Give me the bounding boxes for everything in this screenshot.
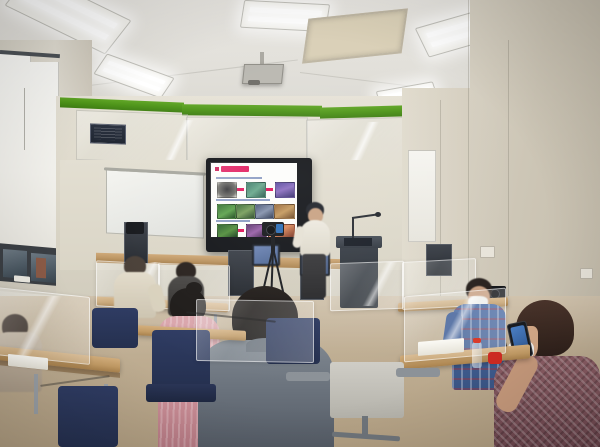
slide-title [221,166,249,172]
attendee-pink-hairbun [186,282,202,295]
glass-reflection [330,121,400,162]
blind-cord[interactable] [24,88,25,150]
right-window-blind [408,150,436,242]
glass-reflection [150,119,210,160]
slide-thumbnail [217,182,237,198]
power-outlet[interactable] [480,246,495,258]
camera-lens [266,225,276,235]
slide-row-label [216,220,250,222]
slide-thumbnail [246,182,266,198]
lectern-control-screen[interactable] [344,238,372,246]
projector-lens [248,80,260,85]
desk-leg [34,374,38,414]
slide-thumbnail [255,204,274,219]
slide-content [211,163,297,237]
chair-seat [146,384,216,402]
whiteboard [106,169,204,238]
slide-row-label [216,199,270,201]
classroom-photo [0,0,600,447]
presenter-legs [302,254,326,298]
slide-thumbnail [275,182,295,198]
wall-accent-stripe [182,104,322,116]
camera-screen [276,224,283,233]
divider-reflection [10,296,70,356]
microphone-head [375,212,381,217]
divider-reflection [356,262,406,306]
chair[interactable] [58,386,118,447]
slide-thumbnail [274,204,295,219]
window-sill-object [14,275,30,282]
slide-thumbnail [236,204,255,219]
microphone-gooseneck [352,218,354,238]
chair[interactable] [92,308,138,348]
chair[interactable] [330,362,404,418]
hand-sanitizer[interactable] [488,352,502,364]
slide-thumbnail [217,204,236,219]
slide-arrow [266,188,273,191]
water-bottle[interactable] [472,342,482,368]
bottle-cap [473,338,481,343]
slide-title-bullet [215,167,219,171]
chair-armrest [286,372,330,381]
slide-thumbnail [217,224,238,237]
power-outlet[interactable] [580,268,593,279]
slide-row-label [216,177,262,179]
slide-arrow [238,229,244,232]
acrylic-divider [196,299,314,363]
window-blind [30,62,59,248]
wall-speaker-left [90,123,126,144]
camera-on-whiteboard-ledge [126,222,144,234]
chair-armrest [396,368,440,377]
presenter-torso [300,220,330,256]
window-view-building [36,258,46,279]
slide-arrow [237,188,244,191]
window-blind [0,52,31,250]
